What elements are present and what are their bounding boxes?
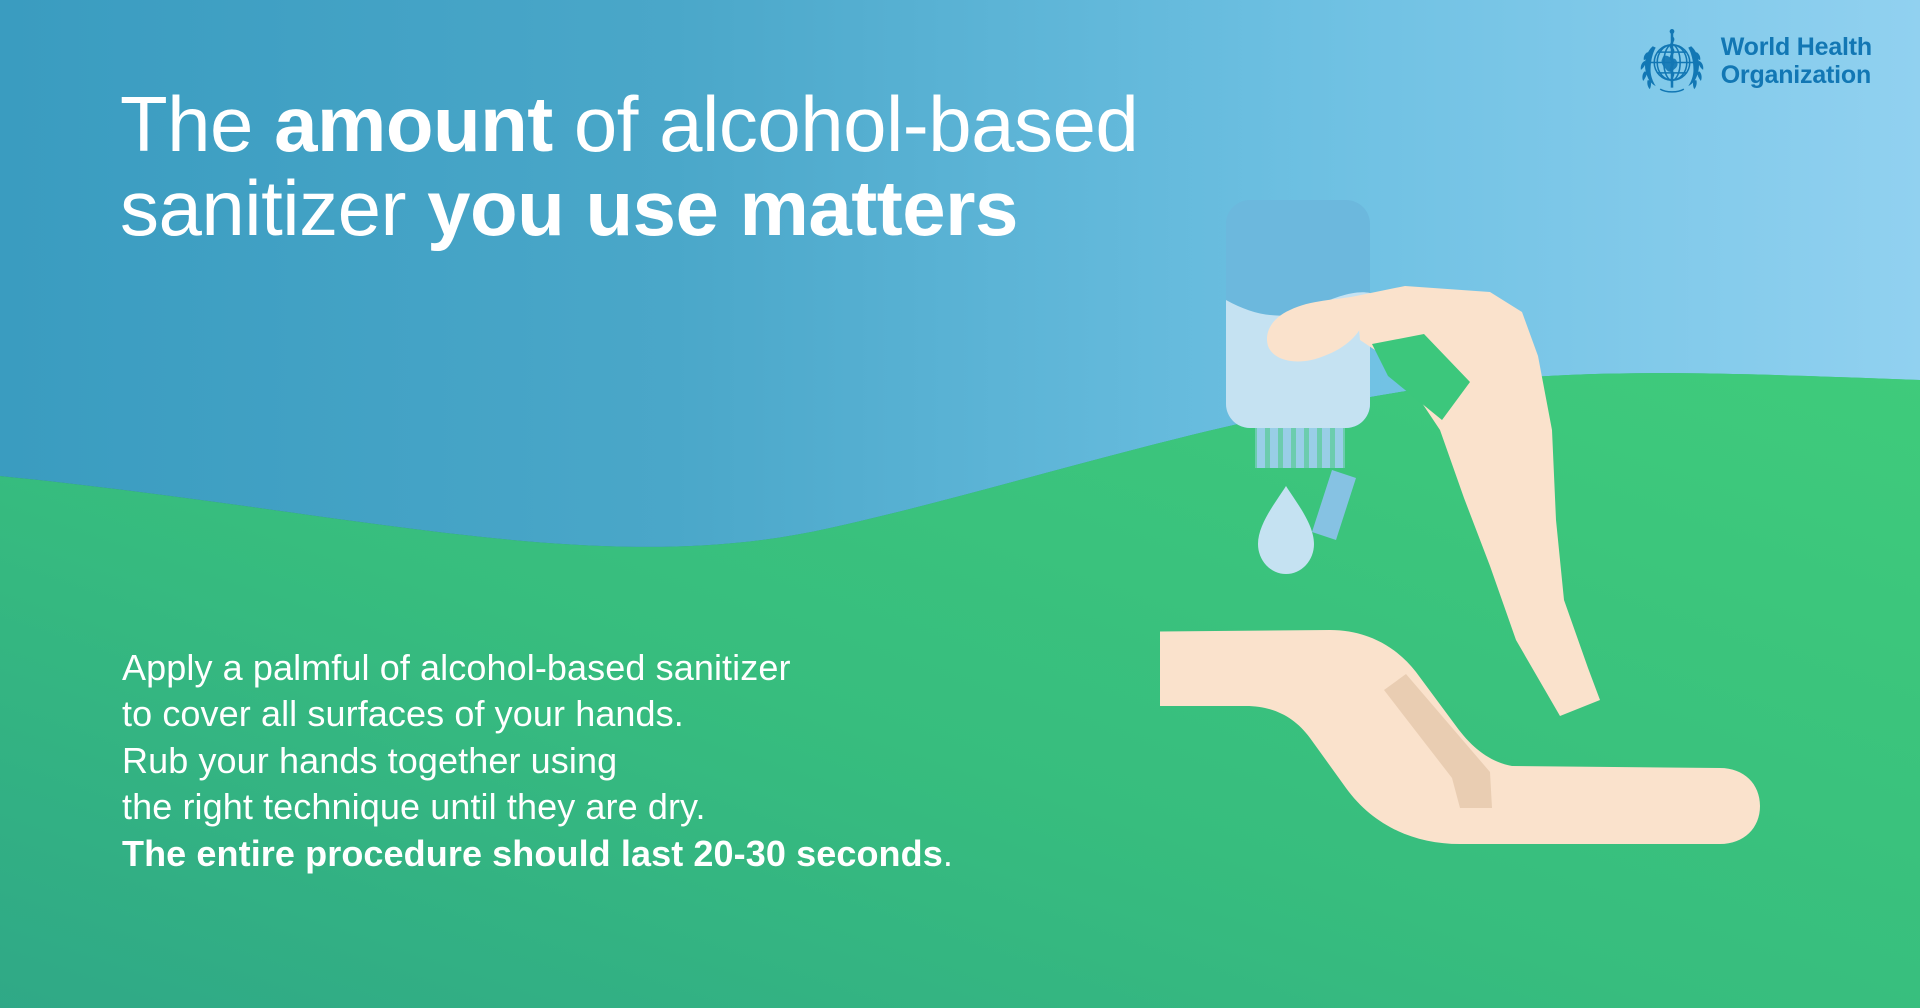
who-emblem-icon: [1635, 24, 1709, 98]
poster-canvas: World Health Organization The amount of …: [0, 0, 1920, 1008]
who-wordmark-line2: Organization: [1721, 63, 1872, 88]
body-emphasis-period: .: [943, 833, 953, 874]
headline-line2-bold: you use matters: [427, 164, 1018, 252]
body-copy: Apply a palmful of alcohol-based sanitiz…: [122, 645, 953, 877]
headline-line1-bold: amount: [274, 80, 553, 168]
headline-line2-pre: sanitizer: [120, 164, 427, 252]
body-line-4: the right technique until they are dry.: [122, 784, 953, 830]
headline-line-1: The amount of alcohol-based: [120, 82, 1270, 166]
body-line-1: Apply a palmful of alcohol-based sanitiz…: [122, 645, 953, 691]
body-line-2: to cover all surfaces of your hands.: [122, 691, 953, 737]
body-line-emphasis: The entire procedure should last 20-30 s…: [122, 831, 953, 877]
headline-line1-pre: The: [120, 80, 274, 168]
headline-line1-post: of alcohol-based: [553, 80, 1139, 168]
page-title: The amount of alcohol-based sanitizer yo…: [120, 82, 1270, 250]
who-wordmark: World Health Organization: [1721, 35, 1872, 88]
who-logo: World Health Organization: [1635, 24, 1872, 98]
headline-line-2: sanitizer you use matters: [120, 166, 1270, 250]
body-line-3: Rub your hands together using: [122, 738, 953, 784]
who-wordmark-line1: World Health: [1721, 35, 1872, 60]
body-emphasis-text: The entire procedure should last 20-30 s…: [122, 833, 943, 874]
